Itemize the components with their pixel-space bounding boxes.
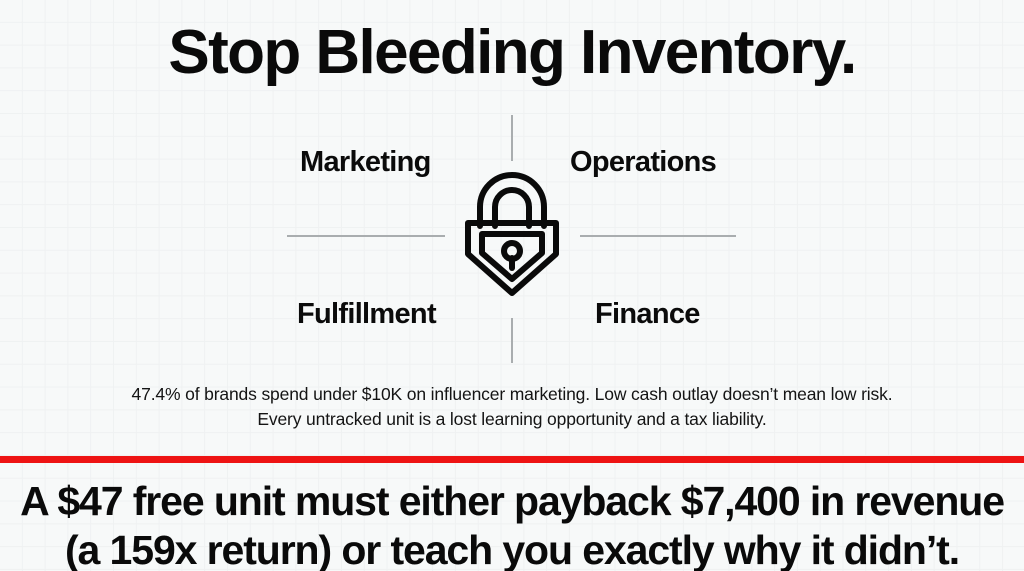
- slide-content: Stop Bleeding Inventory. Marketing Opera…: [0, 0, 1024, 571]
- quadrant-label-marketing: Marketing: [300, 146, 431, 179]
- divider-vertical-top: [511, 115, 513, 161]
- bottom-banner: A $47 free unit must either payback $7,4…: [0, 477, 1024, 571]
- divider-horizontal-left: [287, 235, 445, 237]
- quadrant-label-operations: Operations: [570, 146, 716, 179]
- supporting-paragraph: 47.4% of brands spend under $10K on infl…: [122, 382, 902, 432]
- banner-line-2: (a 159x return) or teach you exactly why…: [0, 526, 1024, 571]
- quadrant-label-fulfillment: Fulfillment: [297, 298, 436, 331]
- quadrant-label-finance: Finance: [595, 298, 700, 331]
- page-title: Stop Bleeding Inventory.: [0, 22, 1024, 84]
- banner-line-1: A $47 free unit must either payback $7,4…: [0, 477, 1024, 526]
- slide-canvas: Stop Bleeding Inventory. Marketing Opera…: [0, 0, 1024, 571]
- divider-vertical-bottom: [511, 318, 513, 363]
- accent-divider: [0, 456, 1024, 463]
- quadrant-diagram: Marketing Operations Fulfillment Finance: [0, 115, 1024, 365]
- divider-horizontal-right: [580, 235, 736, 237]
- lock-shield-icon: [463, 170, 561, 298]
